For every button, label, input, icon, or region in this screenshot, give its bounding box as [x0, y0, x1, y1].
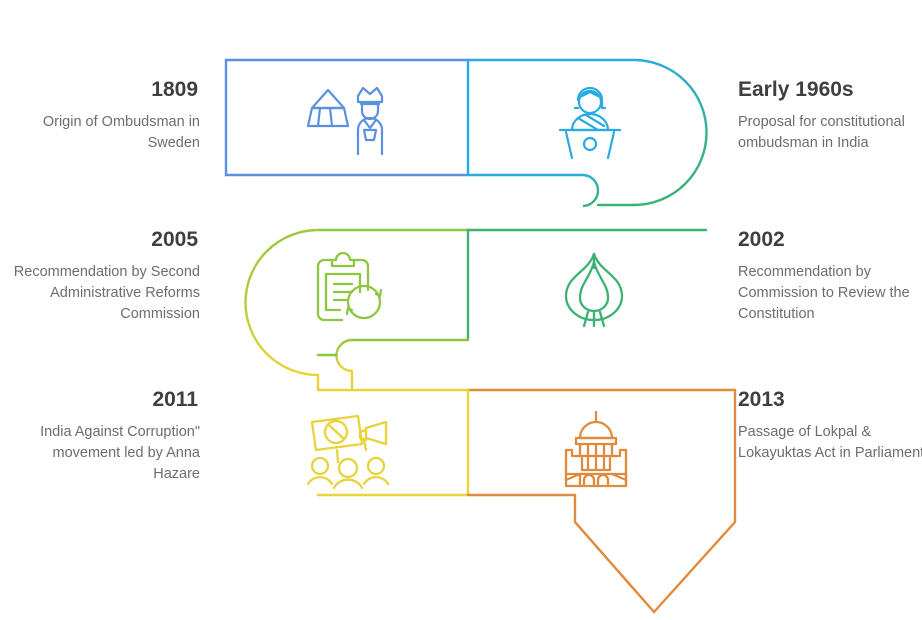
parliament-building-icon: [550, 408, 642, 492]
milestone-2013: 2013 Passage of Lokpal & Lokayuktas Act …: [738, 388, 922, 464]
tent-and-king-icon: [300, 78, 400, 162]
milestone-year: 2002: [738, 228, 922, 251]
protest-placard-icon: [300, 408, 404, 492]
milestone-early-1960s: Early 1960s Proposal for constitutional …: [738, 78, 922, 154]
milestone-description: Recommendation by Second Administrative …: [10, 262, 200, 325]
milestone-description: India Against Corruption" movement led b…: [10, 422, 200, 485]
onion-bulb-icon: [548, 248, 640, 332]
milestone-description: Proposal for constitutional ombudsman in…: [738, 112, 922, 154]
milestone-year: 2013: [738, 388, 922, 411]
milestone-year: Early 1960s: [738, 78, 922, 101]
milestone-1809: 1809 Origin of Ombudsman in Sweden: [10, 78, 200, 154]
milestone-description: Origin of Ombudsman in Sweden: [10, 112, 200, 154]
clipboard-refresh-icon: [302, 248, 398, 332]
milestone-2005: 2005 Recommendation by Second Administra…: [10, 228, 200, 325]
speaker-at-podium-icon: [542, 78, 638, 162]
milestone-year: 2005: [10, 228, 200, 251]
milestone-2002: 2002 Recommendation by Commission to Rev…: [738, 228, 922, 325]
milestone-year: 2011: [10, 388, 200, 411]
milestone-year: 1809: [10, 78, 200, 101]
milestone-2011: 2011 India Against Corruption" movement …: [10, 388, 200, 485]
milestone-description: Passage of Lokpal & Lokayuktas Act in Pa…: [738, 422, 922, 464]
milestone-description: Recommendation by Commission to Review t…: [738, 262, 922, 325]
